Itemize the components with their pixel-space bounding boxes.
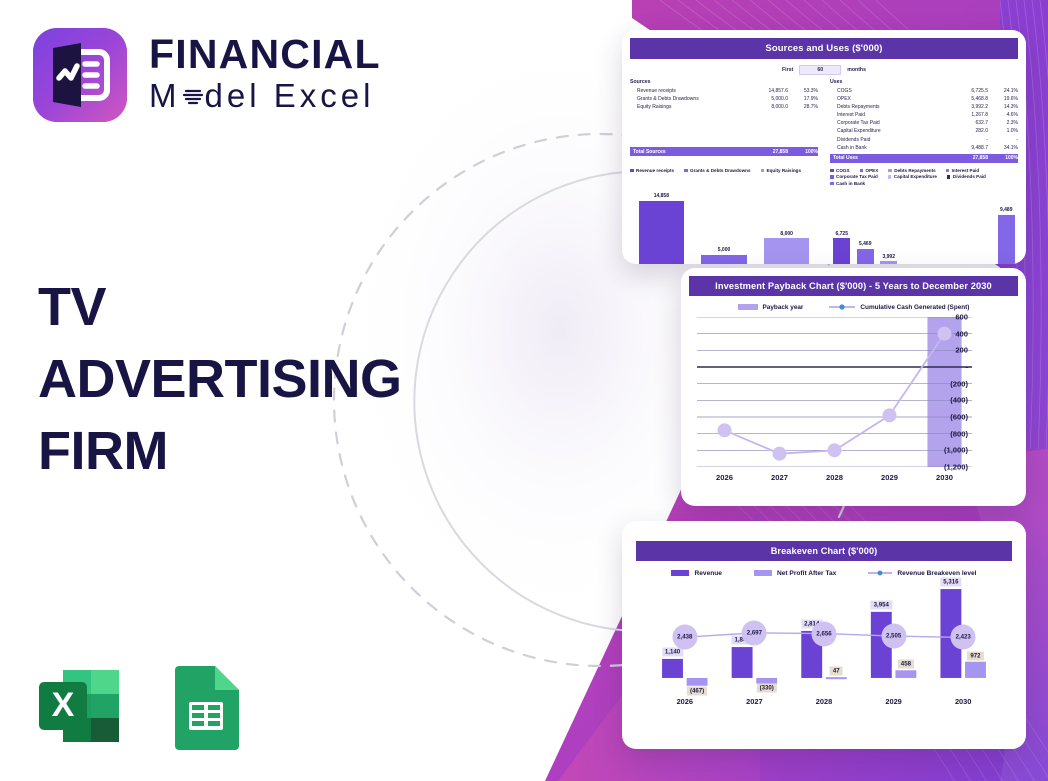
x-tick-label: 2028 (789, 697, 859, 706)
row-pct: 34.1% (988, 144, 1018, 152)
legend-swatch (830, 175, 834, 179)
legend-label: Debts Repayments (894, 168, 935, 173)
legend-label: Cumulative Cash Generated (Spent) (860, 304, 969, 311)
x-tick-label: 2030 (917, 473, 972, 482)
net-profit-bar (965, 662, 986, 678)
y-tick-label: 200 (955, 346, 968, 355)
row-value: 5,000.0 (744, 95, 788, 103)
row-label: Cash in Bank (830, 144, 944, 152)
data-point (883, 408, 897, 422)
breakeven-card-title: Breakeven Chart ($'000) (636, 541, 1012, 561)
legend-swatch (761, 169, 765, 173)
row-label: OPEX (830, 95, 944, 103)
legend-item: Cash in Bank (830, 181, 865, 186)
row-label: Dividends Paid (830, 136, 944, 144)
bar-column: 5,000 (693, 174, 756, 264)
legend-item: Revenue (671, 570, 722, 577)
row-label: Equity Raisings (630, 103, 744, 111)
y-tick-label: (1,000) (944, 446, 968, 455)
sources-total-pct: 100% (788, 149, 818, 155)
bar (764, 238, 809, 264)
data-point (828, 443, 842, 457)
row-value: 6,725.5 (944, 87, 988, 95)
y-tick-label: 600 (955, 313, 968, 322)
row-value: 282.0 (944, 127, 988, 135)
legend-swatch (630, 169, 634, 173)
y-tick-label: - (965, 363, 968, 372)
row-value: 14,857.6 (744, 87, 788, 95)
bar (833, 238, 850, 264)
legend-label: Net Profit After Tax (777, 570, 836, 577)
table-row: OPEX5,468.819.6% (830, 95, 1018, 103)
row-pct: 24.1% (988, 87, 1018, 95)
data-point (718, 423, 732, 437)
row-label: Capital Expenditure (830, 127, 944, 135)
y-tick-label: (1,200) (944, 463, 968, 472)
legend-swatch (888, 169, 892, 173)
legend-item: Equity Raisings (761, 168, 801, 173)
net-profit-bar (826, 677, 847, 679)
x-tick-label: 2029 (859, 697, 929, 706)
legend-label: Equity Raisings (767, 168, 801, 173)
first-label: First (782, 67, 793, 73)
bar-value-label: 5,000 (718, 247, 731, 253)
table-row: Cash in Bank9,488.734.1% (830, 144, 1018, 152)
bar-column: 6,725 (830, 187, 854, 264)
brand-line-2-rest: del Excel (205, 75, 375, 116)
revenue-value-label: 3,954 (871, 600, 892, 609)
row-label: Corporate Tax Paid (830, 119, 944, 127)
row-value: 3,992.2 (944, 103, 988, 111)
bar (857, 249, 874, 264)
row-pct: 1.0% (988, 127, 1018, 135)
net-profit-bar (687, 678, 708, 686)
legend-swatch (830, 182, 834, 186)
legend-label: Payback year (763, 304, 804, 311)
revenue-bar (662, 659, 683, 678)
row-label: Interest Paid (830, 111, 944, 119)
sources-bar-chart: 14,8585,0008,000 (630, 174, 818, 264)
legend-item: Revenue receipts (630, 168, 674, 173)
table-row: Dividends Paid-- (830, 136, 1018, 144)
data-point (773, 447, 787, 461)
poster-canvas: FINANCIAL M del Excel TV ADVERTISING FIR… (0, 0, 1048, 781)
bar (701, 255, 746, 264)
table-row: Equity Raisings8,000.028.7% (630, 103, 818, 111)
legend-item: Capital Expenditure (888, 174, 937, 179)
revenue-value-label: 5,316 (940, 578, 961, 587)
payback-line-chart: 600400200-(200)(400)(600)(800)(1,000)(1,… (697, 317, 972, 467)
uses-header: Uses (830, 79, 1018, 85)
bar-value-label: 8,000 (780, 231, 793, 237)
legend-label: Revenue (694, 570, 722, 577)
uses-total-label: Total Uses (830, 155, 944, 161)
sources-card-title: Sources and Uses ($'000) (630, 38, 1018, 59)
row-pct: 2.3% (988, 119, 1018, 127)
format-icons: X (33, 660, 247, 757)
row-pct: - (988, 136, 1018, 144)
x-tick-label: 2027 (752, 473, 807, 482)
legend-label: COGS (836, 168, 850, 173)
logo-mark-icon (33, 28, 127, 122)
uses-bar-chart: 6,7255,4693,9921,26863328209,489 (830, 187, 1018, 264)
uses-total-row: Total Uses 27,858 100% (830, 154, 1018, 163)
table-row: Debts Repayments3,992.214.3% (830, 103, 1018, 111)
legend-item: Interest Paid (946, 168, 980, 173)
bar-column: 8,000 (755, 174, 818, 264)
uses-table: Uses COGS6,725.524.1%OPEX5,468.819.6%Deb… (830, 79, 1018, 163)
breakeven-node: 2,656 (812, 621, 837, 646)
legend-item: Net Profit After Tax (754, 570, 836, 577)
y-tick-label: (600) (950, 413, 968, 422)
row-label: COGS (830, 87, 944, 95)
legend-swatch (684, 169, 688, 173)
net-profit-value-label: (467) (687, 686, 707, 695)
x-tick-label: 2027 (720, 697, 790, 706)
x-tick-label: 2026 (697, 473, 752, 482)
legend-label: Grants & Debts Drawdowns (690, 168, 751, 173)
bar-value-label: 5,469 (859, 241, 872, 247)
legend-item: Revenue Breakeven level (868, 569, 976, 577)
y-tick-label: (200) (950, 379, 968, 388)
table-row: Grants & Debts Drawdowns5,000.017.9% (630, 95, 818, 103)
row-value: 5,468.8 (944, 95, 988, 103)
bar-value-label: 14,858 (654, 193, 669, 199)
legend-swatch (888, 175, 892, 179)
sources-total-row: Total Sources 27,858 100% (630, 147, 818, 156)
sources-table: Sources Revenue receipts14,857.653.3%Gra… (630, 79, 818, 163)
x-tick-label: 2028 (807, 473, 862, 482)
bar-value-label: 6,725 (835, 231, 848, 237)
legend-label: Revenue Breakeven level (897, 570, 976, 577)
table-row: Revenue receipts14,857.653.3% (630, 87, 818, 95)
legend-item: OPEX (860, 168, 879, 173)
row-value: 632.7 (944, 119, 988, 127)
x-tick-label: 2029 (862, 473, 917, 482)
table-row: Interest Paid1,267.84.6% (830, 111, 1018, 119)
bar-column: 1,268 (901, 187, 925, 264)
row-value: 8,000.0 (744, 103, 788, 111)
row-pct: 19.6% (988, 95, 1018, 103)
payback-card-title: Investment Payback Chart ($'000) - 5 Yea… (689, 276, 1018, 296)
legend-label: Revenue receipts (636, 168, 674, 173)
y-tick-label: (800) (950, 429, 968, 438)
bar-value-label: 3,992 (882, 254, 895, 260)
legend-label: Interest Paid (952, 168, 980, 173)
bar-column: 5,469 (854, 187, 878, 264)
net-profit-bar (756, 678, 777, 684)
net-profit-value-label: 972 (967, 651, 983, 660)
legend-item: COGS (830, 168, 850, 173)
microsoft-excel-icon[interactable]: X (33, 660, 125, 757)
table-row: Corporate Tax Paid632.72.3% (830, 119, 1018, 127)
y-tick-label: 400 (955, 329, 968, 338)
y-tick-label: (400) (950, 396, 968, 405)
legend-swatch (860, 169, 864, 173)
breakeven-node: 2,505 (881, 624, 906, 649)
svg-text:X: X (52, 686, 75, 724)
bar (880, 261, 897, 264)
row-value: 9,488.7 (944, 144, 988, 152)
row-label: Grants & Debts Drawdowns (630, 95, 744, 103)
legend-label: OPEX (866, 168, 879, 173)
row-label: Revenue receipts (630, 87, 744, 95)
uses-chart-legend: COGSOPEXDebts RepaymentsInterest PaidCor… (830, 168, 1018, 188)
payback-y-axis: 600400200-(200)(400)(600)(800)(1,000)(1,… (926, 317, 968, 467)
table-row: Capital Expenditure282.01.0% (830, 127, 1018, 135)
legend-swatch (671, 570, 689, 576)
google-sheets-icon[interactable] (165, 660, 247, 757)
legend-label: Capital Expenditure (894, 174, 937, 179)
bar-column: 633 (924, 187, 948, 264)
net-profit-value-label: (330) (757, 684, 777, 693)
card-sources-and-uses: Sources and Uses ($'000) First 60 months… (622, 30, 1026, 264)
bar-column: 9,489 (995, 187, 1019, 264)
row-pct: 14.3% (988, 103, 1018, 111)
legend-item: Grants & Debts Drawdowns (684, 168, 751, 173)
legend-item: Cumulative Cash Generated (Spent) (829, 303, 969, 311)
cumulative-cash-line (725, 334, 945, 454)
row-pct: 4.6% (988, 111, 1018, 119)
legend-label: Dividends Paid (953, 174, 986, 179)
row-value: - (944, 136, 988, 144)
bar-value-label: 9,489 (1000, 207, 1013, 213)
page-title: TV ADVERTISING FIRM (38, 272, 468, 487)
legend-swatch (754, 570, 772, 576)
bar-column: 282 (948, 187, 972, 264)
sources-header: Sources (630, 79, 818, 85)
breakeven-node: 2,438 (672, 625, 697, 650)
legend-line-icon (868, 569, 892, 577)
legend-label: Corporate Tax Paid (836, 174, 878, 179)
legend-swatch (738, 304, 758, 310)
legend-swatch (830, 169, 834, 173)
row-pct: 17.9% (788, 95, 818, 103)
revenue-bar (732, 647, 753, 678)
breakeven-bar-chart: 1,1401,8482,8143,9545,316(467)(330)47458… (650, 581, 998, 693)
bar (639, 201, 684, 264)
row-pct: 28.7% (788, 103, 818, 111)
legend-item: Debts Repayments (888, 168, 935, 173)
brand-line-2: M del Excel (149, 75, 381, 116)
card-investment-payback: Investment Payback Chart ($'000) - 5 Yea… (681, 268, 1026, 506)
net-profit-value-label: 458 (898, 660, 914, 669)
months-label: months (847, 67, 866, 73)
legend-label: Cash in Bank (836, 181, 865, 186)
logo-o-glyph-icon (182, 84, 204, 108)
brand-logo: FINANCIAL M del Excel (33, 28, 381, 122)
sources-uses-tables: Sources Revenue receipts14,857.653.3%Gra… (630, 79, 1018, 163)
sources-total-value: 27,858 (744, 149, 788, 155)
payback-x-axis: 20262027202820292030 (697, 473, 972, 482)
uses-total-value: 27,858 (944, 155, 988, 161)
months-input[interactable]: 60 (799, 65, 841, 75)
uses-total-pct: 100% (988, 155, 1018, 161)
legend-swatch (947, 175, 951, 179)
x-tick-label: 2026 (650, 697, 720, 706)
bar-column: 0 (971, 187, 995, 264)
row-label: Debts Repayments (830, 103, 944, 111)
legend-item: Payback year (738, 304, 804, 311)
breakeven-node: 2,423 (951, 625, 976, 650)
first-months-row: First 60 months (630, 65, 1018, 75)
bar-column: 14,858 (630, 174, 693, 264)
row-value: 1,267.8 (944, 111, 988, 119)
breakeven-node: 2,697 (742, 620, 767, 645)
legend-item: Corporate Tax Paid (830, 174, 878, 179)
net-profit-value-label: 47 (830, 667, 843, 676)
sources-total-label: Total Sources (630, 149, 744, 155)
legend-line-icon (829, 303, 855, 311)
brand-line-2-m: M (149, 75, 181, 116)
breakeven-x-axis: 20262027202820292030 (650, 697, 998, 706)
brand-line-1: FINANCIAL (149, 34, 381, 75)
breakeven-chart-legend: RevenueNet Profit After TaxRevenue Break… (636, 569, 1012, 577)
row-pct: 53.3% (788, 87, 818, 95)
legend-item: Dividends Paid (947, 174, 986, 179)
bar-column: 3,992 (877, 187, 901, 264)
payback-chart-legend: Payback yearCumulative Cash Generated (S… (689, 303, 1018, 311)
table-row: COGS6,725.524.1% (830, 87, 1018, 95)
legend-swatch (946, 169, 950, 173)
card-breakeven: Breakeven Chart ($'000) RevenueNet Profi… (622, 521, 1026, 749)
bar (998, 215, 1015, 264)
net-profit-bar (895, 670, 916, 678)
x-tick-label: 2030 (928, 697, 998, 706)
